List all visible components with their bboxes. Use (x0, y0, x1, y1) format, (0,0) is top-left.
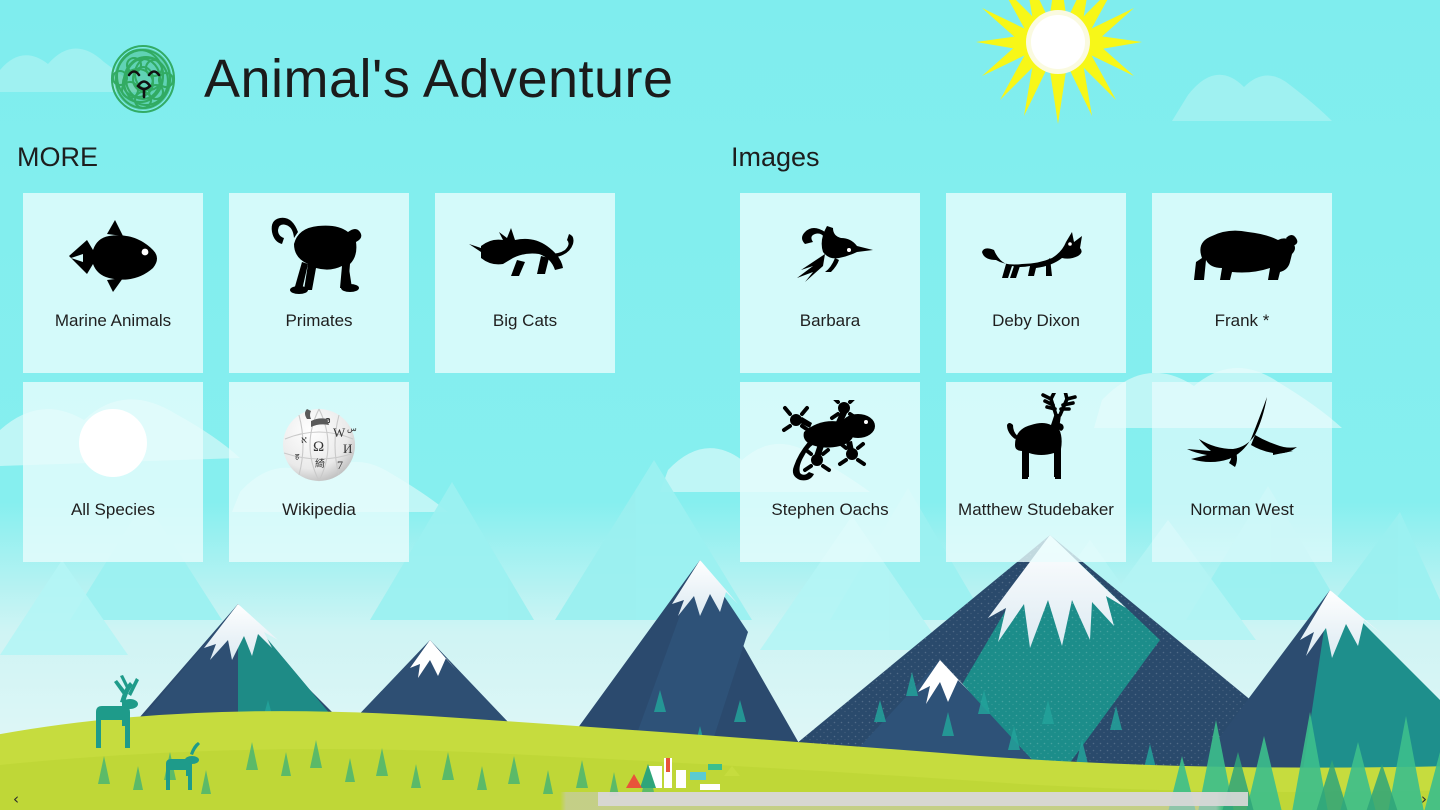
fish-icon (23, 193, 203, 311)
tile-label: Marine Animals (23, 311, 203, 331)
gecko-icon (740, 382, 920, 500)
scroll-left-arrow-icon[interactable]: ‹ (0, 788, 32, 810)
tile-deby-dixon[interactable]: Deby Dixon (946, 193, 1126, 373)
svg-text:綺: 綺 (315, 457, 325, 470)
tile-label: Wikipedia (229, 500, 409, 520)
svg-text:W: W (333, 425, 346, 440)
tile-label: Frank * (1152, 311, 1332, 331)
app-header: Animal's Adventure (0, 0, 674, 118)
tile-norman-west[interactable]: Norman West (1152, 382, 1332, 562)
deer-icon (946, 382, 1126, 500)
svg-text:Ω: Ω (313, 439, 324, 455)
tile-primates[interactable]: Primates (229, 193, 409, 373)
svg-text:س: س (347, 424, 357, 433)
monkey-icon (229, 193, 409, 311)
horizontal-scrollbar[interactable]: ‹ › (0, 788, 1440, 810)
fox-icon (946, 193, 1126, 311)
hummingbird-icon (740, 193, 920, 311)
scrollbar-thumb[interactable] (598, 792, 1248, 806)
tile-label: Deby Dixon (946, 311, 1126, 331)
tile-label: Barbara (740, 311, 920, 331)
tile-label: Matthew Studebaker (946, 500, 1126, 520)
tile-wikipedia[interactable]: W Ω И א 綺 7 ອ س ह Wikipedia (229, 382, 409, 562)
scrollbar-track[interactable] (32, 788, 1408, 810)
tile-label: Stephen Oachs (740, 500, 920, 520)
tile-frank[interactable]: Frank * (1152, 193, 1332, 373)
flying-seagull-icon (1152, 382, 1332, 500)
svg-text:И: И (343, 441, 352, 456)
wikipedia-globe-icon: W Ω И א 綺 7 ອ س ह (229, 382, 409, 500)
green-scribble-smiley-icon (104, 40, 182, 118)
svg-text:7: 7 (337, 458, 343, 472)
tile-marine-animals[interactable]: Marine Animals (23, 193, 203, 373)
tile-barbara[interactable]: Barbara (740, 193, 920, 373)
svg-text:א: א (301, 435, 307, 446)
app-root: Animal's Adventure MORE Images Marine An… (0, 0, 1440, 810)
tile-matthew-studebaker[interactable]: Matthew Studebaker (946, 382, 1126, 562)
scroll-right-arrow-icon[interactable]: › (1408, 788, 1440, 810)
white-circle-icon (23, 382, 203, 500)
tile-label: All Species (23, 500, 203, 520)
page-title: Animal's Adventure (204, 52, 674, 106)
tile-grid-more: Marine Animals Primates (23, 193, 615, 562)
leaping-cat-icon (435, 193, 615, 311)
tile-label: Norman West (1152, 500, 1332, 520)
group-heading-images[interactable]: Images (731, 144, 820, 171)
tile-label: Primates (229, 311, 409, 331)
tile-all-species[interactable]: All Species (23, 382, 203, 562)
group-heading-more[interactable]: MORE (17, 144, 98, 171)
tile-grid-images: Barbara Deby Dixon Frank * (740, 193, 1332, 562)
tile-stephen-oachs[interactable]: Stephen Oachs (740, 382, 920, 562)
bear-icon (1152, 193, 1332, 311)
tile-label: Big Cats (435, 311, 615, 331)
tile-big-cats[interactable]: Big Cats (435, 193, 615, 373)
